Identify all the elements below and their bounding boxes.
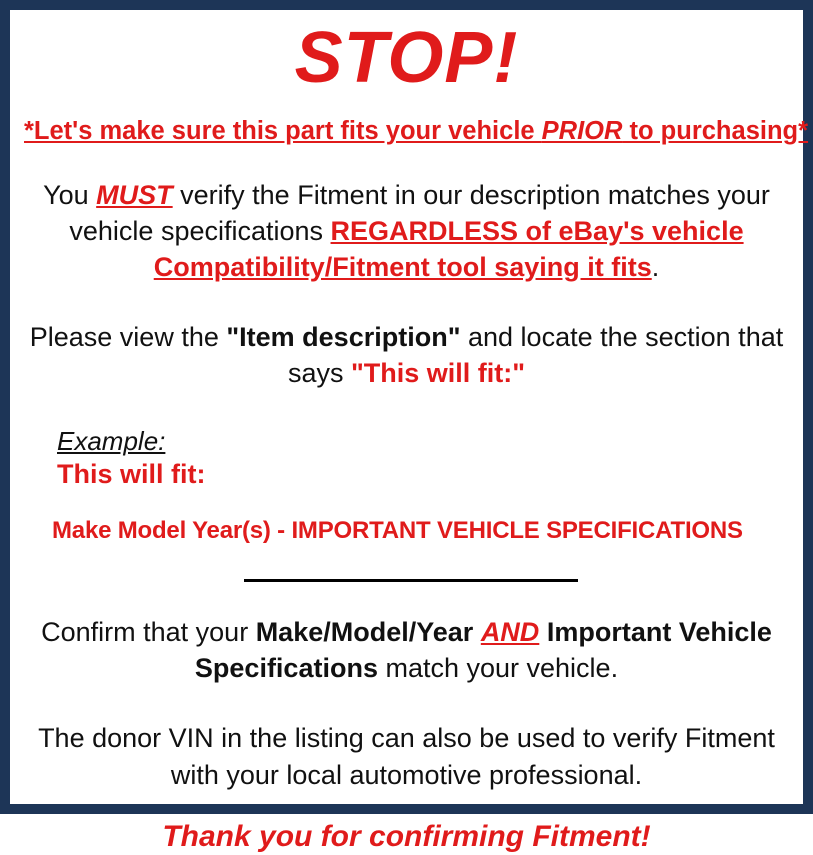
subtitle-banner: *Let's make sure this part fits your veh…	[24, 116, 789, 147]
must-part-3: .	[652, 252, 660, 282]
make-model-year-emphasis: Make/Model/Year	[256, 617, 474, 647]
confirm-part-4: match your vehicle.	[378, 653, 618, 683]
example-spec-line: Make Model Year(s) - IMPORTANT VEHICLE S…	[52, 517, 789, 546]
confirm-part-3	[539, 617, 547, 647]
must-emphasis: MUST	[96, 180, 173, 210]
example-label: Example:	[57, 427, 789, 457]
item-description-emphasis: "Item description"	[226, 322, 460, 352]
subtitle-suffix: to purchasing*	[622, 117, 808, 145]
divider-wrapper	[24, 572, 789, 590]
thank-you-line: Thank you for confirming Fitment!	[24, 819, 789, 855]
item-description-paragraph: Please view the "Item description" and l…	[24, 319, 789, 391]
view-part-1: Please view the	[30, 322, 227, 352]
must-verify-paragraph: You MUST verify the Fitment in our descr…	[24, 177, 789, 286]
confirm-part-2	[473, 617, 481, 647]
donor-vin-paragraph: The donor VIN in the listing can also be…	[24, 720, 789, 792]
fitment-notice-body: STOP! *Let's make sure this part fits yo…	[24, 22, 789, 816]
must-part-1: You	[43, 180, 96, 210]
subtitle-prefix: *Let's make sure this part fits your veh…	[24, 117, 542, 145]
subtitle-emphasis-prior: PRIOR	[542, 117, 623, 145]
confirm-paragraph: Confirm that your Make/Model/Year AND Im…	[24, 614, 789, 686]
section-divider	[244, 579, 578, 582]
confirm-part-1: Confirm that your	[41, 617, 256, 647]
stop-headline: STOP!	[24, 22, 789, 94]
example-block: Example: This will fit: Make Model Year(…	[24, 427, 789, 546]
this-will-fit-emphasis: "This will fit:"	[351, 358, 525, 388]
example-fit-heading: This will fit:	[57, 459, 789, 491]
fitment-notice-card: STOP! *Let's make sure this part fits yo…	[0, 0, 813, 814]
and-emphasis: AND	[481, 617, 540, 647]
